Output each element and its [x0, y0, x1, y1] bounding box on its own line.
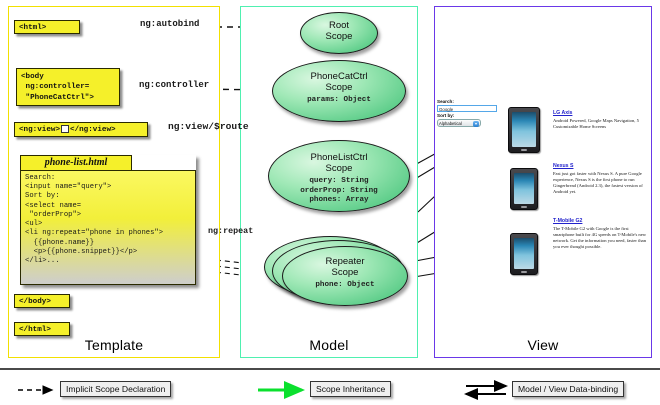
view-search-widget: Search: Google Sort by: Alphabetical ▾	[437, 99, 499, 127]
list-item: LG Axis Android Powered, Google Maps Nav…	[553, 110, 651, 130]
legend-divider	[0, 368, 660, 370]
code-body-open: <body ng:controller= "PhoneCatCtrl">	[16, 68, 120, 106]
scope-phonecatctrl-name-line2: Scope	[273, 83, 405, 94]
phone-thumbnail-1[interactable]	[508, 107, 540, 153]
scope-phonelistctrl-name-line2: Scope	[269, 164, 409, 175]
edge-label-ngrepeat: ng:repeat	[208, 226, 253, 236]
legend-item-implicit-scope-declaration: Implicit Scope Declaration	[60, 381, 171, 397]
code-html-close: </html>	[14, 322, 70, 336]
edge-label-controller: ng:controller	[139, 80, 209, 90]
search-input[interactable]: Google	[437, 105, 497, 112]
phone-name-link[interactable]: T-Mobile G2	[553, 218, 651, 224]
edge-label-ngview-route: ng:view/$route	[168, 121, 249, 132]
scope-phonecatctrl-props: params: Object	[273, 96, 405, 105]
phone-name-link[interactable]: LG Axis	[553, 110, 651, 116]
code-body-close: </body>	[14, 294, 70, 308]
phone-screen-1	[512, 112, 536, 147]
diagram-canvas: Template Model View <html> <body ng:cont…	[0, 0, 660, 405]
chevron-down-icon: ▾	[473, 121, 479, 127]
sort-select[interactable]: Alphabetical ▾	[437, 119, 481, 127]
scope-phonelistctrl: PhoneListCtrl Scope query: String orderP…	[268, 140, 410, 212]
edge-label-autobind: ng:autobind	[140, 19, 199, 29]
scope-phonelistctrl-props: query: String orderProp: String phones: …	[269, 177, 409, 205]
scope-repeater: Repeater Scope phone: Object	[282, 246, 408, 306]
panel-model-label: Model	[241, 337, 417, 353]
phone-screen-3	[514, 238, 534, 269]
ngview-open-tag: <ng:view>	[19, 126, 60, 134]
phone-snippet: The T-Mobile G2 with Google is the first…	[553, 226, 651, 250]
phone-snippet: Android Powered, Google Maps Navigation,…	[553, 118, 651, 130]
phone-home-button-3	[521, 271, 527, 273]
phone-thumbnail-2[interactable]	[510, 168, 538, 210]
ngview-close-tag: </ng:view>	[70, 126, 116, 134]
scope-phonecatctrl: PhoneCatCtrl Scope params: Object	[272, 60, 406, 122]
ngview-placeholder-icon	[61, 125, 69, 133]
panel-template-label: Template	[9, 337, 219, 353]
sort-label: Sort by:	[437, 113, 499, 119]
scope-repeater-name-line2: Scope	[283, 268, 407, 279]
scope-repeater-props: phone: Object	[283, 281, 407, 290]
panel-view-label: View	[435, 337, 651, 353]
phone-snippet: Fast just got faster with Nexus S. A pur…	[553, 171, 651, 195]
callout-code: Search: <input name="query"> Sort by: <s…	[20, 170, 196, 285]
phone-home-button-1	[521, 149, 527, 151]
code-html-open: <html>	[14, 20, 80, 34]
legend-item-model-view-data-binding: Model / View Data-binding	[512, 381, 624, 397]
scope-root-name-line2: Scope	[301, 32, 377, 43]
list-item: Nexus S Fast just got faster with Nexus …	[553, 163, 651, 195]
phone-screen-2	[514, 173, 534, 204]
phone-name-link[interactable]: Nexus S	[553, 163, 651, 169]
sort-select-value: Alphabetical	[439, 121, 462, 126]
phone-thumbnail-3[interactable]	[510, 233, 538, 275]
phone-home-button-2	[521, 206, 527, 208]
scope-root: Root Scope	[300, 12, 378, 54]
code-ngview: <ng:view></ng:view>	[14, 122, 148, 137]
template-callout: phone-list.html Search: <input name="que…	[20, 155, 196, 285]
legend-item-scope-inheritance: Scope Inheritance	[310, 381, 391, 397]
callout-filename: phone-list.html	[20, 155, 132, 171]
list-item: T-Mobile G2 The T-Mobile G2 with Google …	[553, 218, 651, 250]
